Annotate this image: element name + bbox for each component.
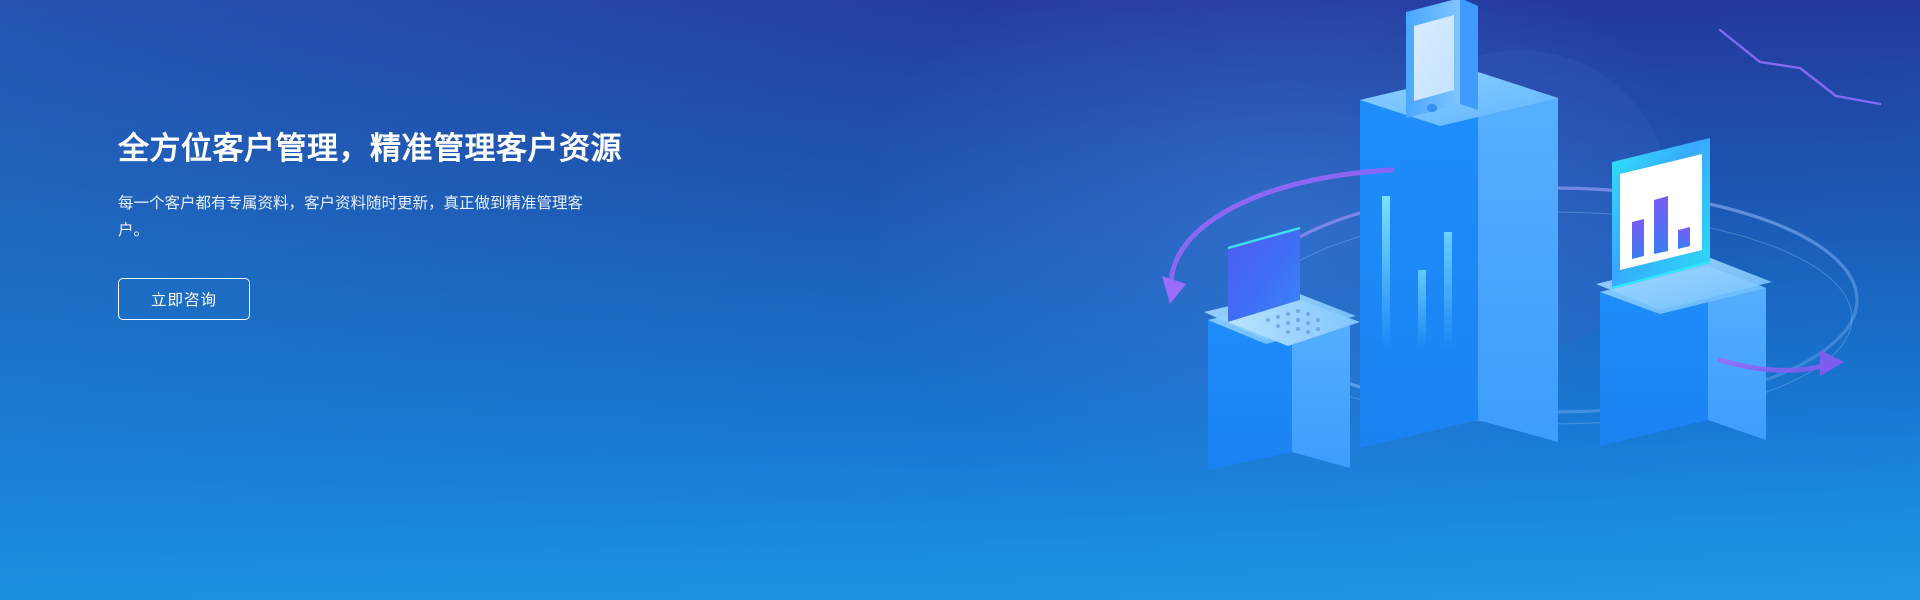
pillar-center	[1360, 72, 1558, 448]
tablet-device	[1406, 0, 1478, 118]
hero-illustration	[1160, 0, 1920, 600]
hero-copy: 全方位客户管理，精准管理客户资源 每一个客户都有专属资料，客户资料随时更新，真正…	[118, 130, 758, 320]
monitor-chart-device	[1612, 138, 1710, 288]
hero-subtitle: 每一个客户都有专属资料，客户资料随时更新，真正做到精准管理客户。	[118, 190, 598, 244]
zigzag-line	[1720, 30, 1880, 104]
laptop-device	[1228, 228, 1360, 346]
page-title: 全方位客户管理，精准管理客户资源	[118, 130, 758, 169]
hero-banner: 全方位客户管理，精准管理客户资源 每一个客户都有专属资料，客户资料随时更新，真正…	[0, 0, 1920, 600]
consult-now-button[interactable]: 立即咨询	[118, 278, 250, 320]
